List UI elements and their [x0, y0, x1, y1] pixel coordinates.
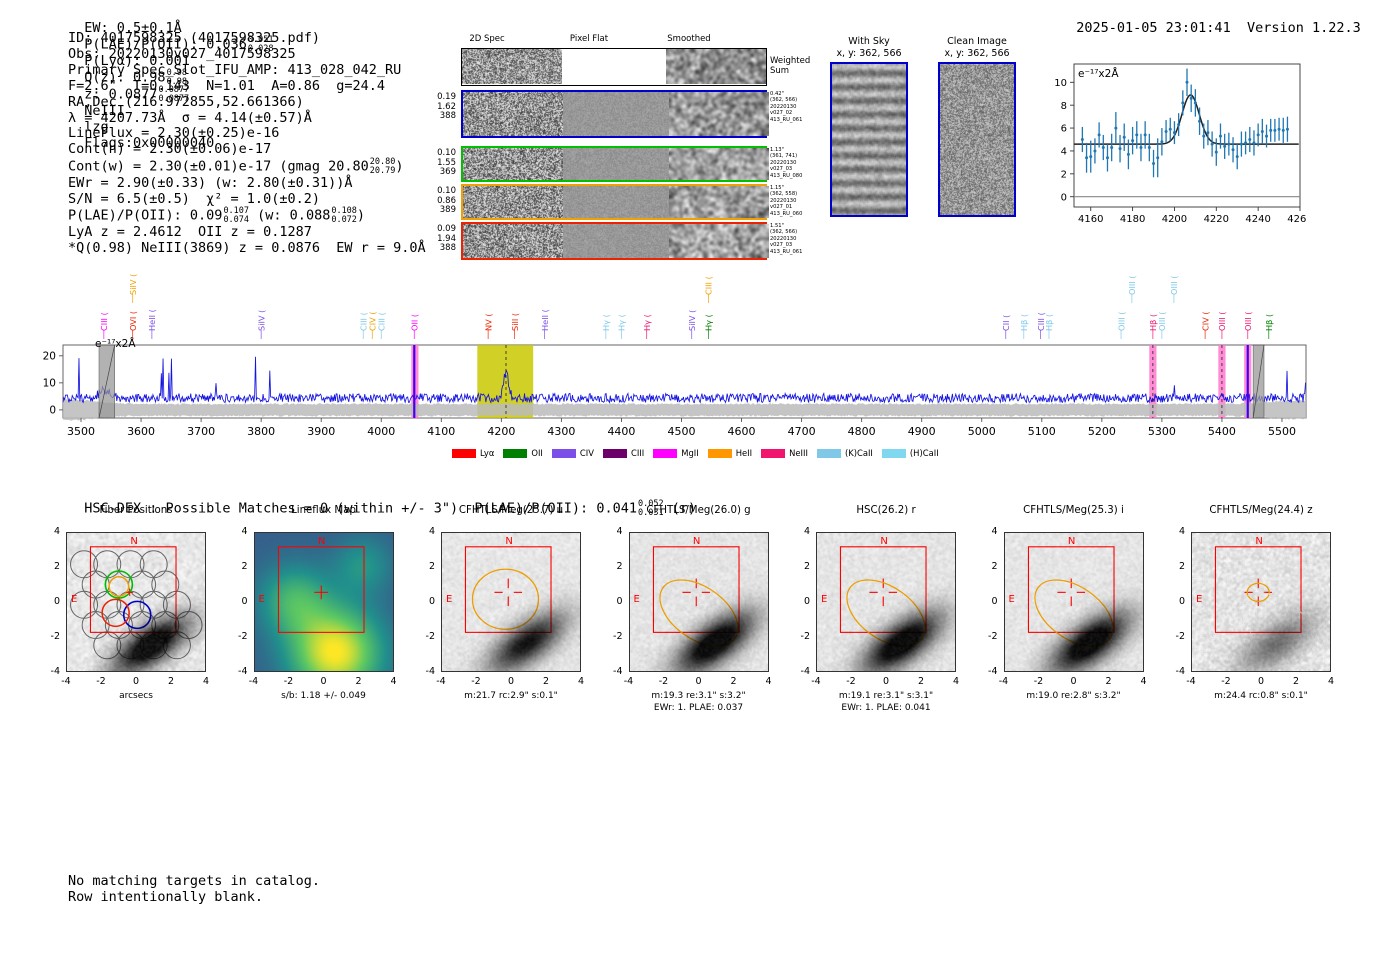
spectrum-line-label: OVI ( — [128, 311, 138, 331]
spectrum-xtick: 4500 — [667, 425, 695, 438]
thumbnail-caption: m:19.3 re:3.1" s:3.2"EWr: 1. PLAE: 0.037 — [601, 691, 797, 714]
bottom-note-line-1: No matching targets in catalog. — [68, 873, 320, 889]
spec2d-fiber-smoothed — [669, 186, 769, 218]
spec2d-row-stat: 388 — [410, 112, 456, 122]
compass-east-label: E — [1196, 594, 1202, 605]
spectrum-legend-label: OII — [531, 448, 543, 458]
spec2d-weighted-smoothed — [666, 49, 766, 85]
thumbnail-xtick: -2 — [837, 676, 865, 687]
spec2d-row-meta-block: 1.15"(362, 558)20220130v027_01413_RU_060 — [770, 185, 802, 217]
spectrum-xtick: 4400 — [607, 425, 635, 438]
thumbnail-ytick: -2 — [411, 631, 435, 642]
spectrum-line-label: Hγ ( — [617, 314, 627, 331]
thumbnail-cutout[interactable] — [441, 532, 581, 672]
thumbnail-xtick: -2 — [275, 676, 303, 687]
spec2d-row-meta: 413_RU_080 — [770, 173, 802, 179]
spec2d-column-header-2: Smoothed — [659, 34, 719, 44]
compass-east-label: E — [259, 594, 265, 605]
spec2d-fiber-2dspec — [463, 148, 563, 180]
spectrum-line-label: CIII ( — [99, 312, 109, 331]
spectrum-xtick: 4900 — [908, 425, 936, 438]
spectrum-legend-label: CIII — [631, 448, 644, 458]
spec2d-row-stat: 388 — [410, 244, 456, 254]
thumbnail-caption-line: m:21.7 rc:2.9" s:0.1" — [413, 691, 609, 703]
spec2d-fiber-smoothed-img — [669, 186, 769, 218]
zoom-ytick: 2 — [1061, 169, 1067, 180]
spec2d-fiber-2dspec — [463, 92, 563, 136]
spectrum-line-label: OII ( — [409, 314, 419, 331]
spectrum-line-label: OIII ( — [1169, 276, 1179, 296]
spectrum-xtick: 4100 — [427, 425, 455, 438]
source-info-block: ID: 4017598325 (4017598325.pdf) Obs: 202… — [68, 31, 426, 257]
spec2d-row-meta: 413_RU_061 — [770, 249, 802, 255]
zoom-xtick: 4220 — [1204, 214, 1229, 225]
fiber-galaxy-image — [67, 533, 205, 671]
spectrum-legend-swatch — [603, 449, 627, 458]
spectrum-legend-swatch — [503, 449, 527, 458]
thumbnail-caption-line: m:19.0 re:2.8" s:3.2" — [976, 691, 1172, 703]
spectrum-ytick: 0 — [49, 404, 56, 416]
header-version: Version 1.22.3 — [1247, 20, 1361, 36]
sky-image-title-text: With Sky — [818, 36, 920, 48]
thumbnail-cutout[interactable] — [254, 532, 394, 672]
spectrum-legend-label: HeII — [736, 448, 752, 458]
header-timestamp-version: 2025-01-05 23:01:41 Version 1.22.3 — [1060, 4, 1361, 36]
thumbnail-xtick: 0 — [122, 676, 150, 687]
thumbnail-title: CFHTLS/Meg(24.4) z — [1163, 505, 1359, 516]
compass-north-label: N — [1255, 536, 1262, 547]
thumbnail-xtick: -2 — [650, 676, 678, 687]
thumbnail-ytick: 0 — [599, 596, 623, 607]
thumbnail-ytick: 0 — [411, 596, 435, 607]
thumbnail-xtick: 2 — [345, 676, 373, 687]
spec2d-fiber-2dspec-img — [463, 186, 563, 218]
spec2d-weighted-2dspec — [462, 49, 562, 85]
thumbnail-xtick: -2 — [1212, 676, 1240, 687]
thumbnail-ytick: 4 — [599, 526, 623, 537]
spec2d-row-meta: 413_RU_060 — [770, 211, 802, 217]
info-line-primary-spec: Primary Spec_Slot_IFU_AMP: 413_028_042_R… — [68, 63, 426, 79]
spec2d-row-stats: 0.191.62388 — [410, 93, 456, 122]
spec2d-row-meta: 413_RU_061 — [770, 117, 802, 123]
spectrum-line-label: SiIV ( — [687, 310, 697, 331]
spectrum-xtick: 3600 — [127, 425, 155, 438]
info-line-snr: S/N = 6.5(±0.5) χ² = 1.0(±0.2) — [68, 192, 426, 208]
zoom-line-profile-chart: 0246810416041804200422042404260e⁻¹⁷x2Å — [1038, 56, 1306, 231]
info-line-redshifts: LyA z = 2.4612 OII z = 0.1287 — [68, 225, 426, 241]
spectrum-line-label: OIII ( — [1243, 312, 1253, 332]
spec2d-fiber-row[interactable] — [461, 90, 767, 138]
thumbnail-caption: s/b: 1.18 +/- 0.049 — [226, 691, 422, 703]
cont-w-gmag-range: 20.8020.79 — [370, 158, 396, 175]
spectrum-line-label: CIII ( — [704, 276, 714, 295]
spec2d-row-stats: 0.091.94388 — [410, 225, 456, 254]
spec2d-row-stats: 0.100.86389 — [410, 187, 456, 216]
spec2d-row-stat: 369 — [410, 168, 456, 178]
cutout-galaxy-image — [442, 533, 580, 671]
thumbnail-xtick: 4 — [755, 676, 783, 687]
spectrum-legend-label: Lyα — [480, 448, 494, 458]
thumbnail-ytick: 4 — [974, 526, 998, 537]
spec2d-fiber-2dspec-img — [463, 148, 563, 180]
thumbnail-ytick: 2 — [411, 561, 435, 572]
full-spectrum-chart: 0102035003600370038003900400041004200430… — [0, 268, 1400, 473]
thumbnail-ytick: 0 — [786, 596, 810, 607]
thumbnail-xtick: -2 — [462, 676, 490, 687]
spec2d-weighted-smoothed-img — [666, 49, 766, 84]
spectrum-xtick: 4700 — [788, 425, 816, 438]
info-line-cont-w: Cont(w) = 2.30(±0.01)e-17 (gmag 20.8020.… — [68, 158, 426, 175]
spec2d-fiber-row[interactable] — [461, 184, 767, 220]
info-line-obs: Obs: 20220130v027_4017598325 — [68, 47, 426, 63]
spec2d-fiber-pixelflat — [563, 186, 669, 218]
thumbnail-cutout[interactable] — [816, 532, 956, 672]
thumbnail-xtick: 0 — [1247, 676, 1275, 687]
sky-image-cutout[interactable] — [830, 62, 908, 217]
zoom-ytick: 6 — [1061, 124, 1067, 135]
spec2d-fiber-smoothed — [669, 92, 769, 136]
spectrum-xtick: 4200 — [487, 425, 515, 438]
spectrum-legend-swatch — [817, 449, 841, 458]
zoom-xtick: 4240 — [1245, 214, 1270, 225]
thumbnail-svg — [255, 533, 393, 671]
compass-north-label: N — [880, 536, 887, 547]
spec2d-fiber-smoothed-img — [669, 148, 769, 180]
info-line-lineflux: LineFlux = 2.30(±0.25)e-16 — [68, 126, 426, 142]
thumbnail-ytick: 2 — [224, 561, 248, 572]
spectrum-xtick: 5400 — [1208, 425, 1236, 438]
thumbnail-ytick: 4 — [411, 526, 435, 537]
info-line-wavelength: λ = 4207.73Å σ = 4.14(±0.57)Å — [68, 111, 426, 127]
thumbnail-caption-line: arcsecs — [38, 691, 234, 703]
spectrum-legend-swatch — [761, 449, 785, 458]
spec2d-fiber-pixelflat — [563, 224, 669, 258]
thumbnail-xtick: 2 — [720, 676, 748, 687]
spec2d-fiber-smoothed — [669, 148, 769, 180]
info-line-qnote: *Q(0.98) NeIII(3869) z = 0.0876 EW r = 9… — [68, 241, 426, 257]
spec2d-row-stat: 389 — [410, 206, 456, 216]
thumbnail-title: Lineflux Map — [226, 505, 422, 516]
spectrum-line-label: Hβ ( — [1264, 314, 1274, 331]
spectrum-legend-label: (H)CaII — [910, 448, 939, 458]
spec2d-fiber-smoothed-img — [669, 224, 769, 258]
spectrum-xtick: 3900 — [307, 425, 335, 438]
bottom-note: No matching targets in catalog. Row inte… — [68, 873, 320, 905]
sky-image-data — [832, 64, 906, 215]
thumbnail-ytick: 0 — [974, 596, 998, 607]
thumbnail-cutout[interactable] — [1191, 532, 1331, 672]
spectrum-line-label: Hβ ( — [1044, 314, 1054, 331]
thumbnail-caption-line: EWr: 1. PLAE: 0.037 — [601, 703, 797, 715]
thumbnail-xtick: 4 — [567, 676, 595, 687]
spectrum-line-label: OIII ( — [1217, 312, 1227, 332]
spec2d-fiber-smoothed — [669, 224, 769, 258]
spectrum-line-label: SiIV ( — [128, 274, 138, 295]
thumbnail-xtick: -2 — [1025, 676, 1053, 687]
thumbnail-xtick: -4 — [240, 676, 268, 687]
spectrum-legend-label: (K)CaII — [845, 448, 873, 458]
spectrum-legend-item: MgII — [653, 448, 698, 458]
thumbnail-caption: arcsecs — [38, 691, 234, 703]
thumbnail-xtick: 0 — [872, 676, 900, 687]
compass-east-label: E — [1009, 594, 1015, 605]
spec2d-column-header-0: 2D Spec — [457, 34, 517, 44]
spec2d-fiber-row[interactable] — [461, 222, 767, 260]
thumbnail-title: HSC(26.2) r — [788, 505, 984, 516]
spectrum-legend-swatch — [882, 449, 906, 458]
info-line-id: ID: 4017598325 (4017598325.pdf) — [68, 31, 426, 47]
spectrum-line-label: CII ( — [1001, 315, 1011, 331]
thumbnail-ytick: -2 — [36, 631, 60, 642]
spectrum-line-label: NV ( — [483, 313, 493, 331]
zoom-xtick: 4200 — [1162, 214, 1187, 225]
thumbnail-ytick: 0 — [224, 596, 248, 607]
spectrum-legend-item: (H)CaII — [882, 448, 939, 458]
plae-w-range: 0.1080.072 — [331, 207, 357, 224]
thumbnail-xtick: 0 — [685, 676, 713, 687]
thumbnail-xtick: 2 — [1095, 676, 1123, 687]
spectrum-line-label: HeII ( — [147, 309, 157, 331]
thumbnail-ytick: -2 — [1161, 631, 1185, 642]
spec2d-row-stats: 0.101.55369 — [410, 149, 456, 178]
spec2d-panel: 2D SpecPixel FlatSmoothedWeighted Sum0.1… — [436, 34, 786, 249]
spec2d-fiber-2dspec-img — [463, 92, 563, 136]
cutout-thumbnail-row: Fiber Positions420-2-4-4-2024+NEarcsecsL… — [0, 505, 1400, 735]
compass-north-label: N — [318, 536, 325, 547]
info-line-radec: RA,Dec (216.972855,52.661366) — [68, 95, 426, 111]
thumbnail-xtick: -2 — [87, 676, 115, 687]
thumbnail-xtick: -4 — [990, 676, 1018, 687]
sky-image-cutout[interactable] — [938, 62, 1016, 217]
thumbnail-ytick: -2 — [786, 631, 810, 642]
zoom-xtick: 4180 — [1120, 214, 1145, 225]
spectrum-legend-item: NeIII — [761, 448, 808, 458]
compass-north-label: N — [1068, 536, 1075, 547]
thumbnail-ytick: 2 — [36, 561, 60, 572]
zoom-ytick: 8 — [1061, 101, 1067, 112]
spectrum-line-label: OIII ( — [1157, 312, 1167, 332]
spec2d-weighted-sum-label: Weighted Sum — [770, 56, 810, 76]
spectrum-legend-swatch — [452, 449, 476, 458]
spectrum-line-label: SiII ( — [510, 313, 520, 331]
spectrum-legend-item: CIII — [603, 448, 644, 458]
full-spectrum-svg: 0102035003600370038003900400041004200430… — [0, 268, 1400, 473]
spec2d-row-meta-block: 0.42"(362, 566)20220130v027_02413_RU_061 — [770, 91, 802, 123]
spectrum-legend-item: (K)CaII — [817, 448, 873, 458]
thumbnail-caption-line: EWr: 1. PLAE: 0.041 — [788, 703, 984, 715]
info-line-plae: P(LAE)/P(OII): 0.090.1070.074 (w: 0.0880… — [68, 207, 426, 224]
spec2d-fiber-pixelflat-img — [563, 148, 669, 180]
spectrum-legend-label: MgII — [681, 448, 698, 458]
sky-images-panel: With Skyx, y: 362, 566Clean Imagex, y: 3… — [820, 36, 1020, 251]
spec2d-fiber-2dspec — [463, 224, 563, 258]
thumbnail-caption-line: m:24.4 rc:0.8" s:0.1" — [1163, 691, 1359, 703]
thumbnail-xtick: 0 — [1060, 676, 1088, 687]
compass-east-label: E — [446, 594, 452, 605]
thumbnail-ytick: 0 — [36, 596, 60, 607]
thumbnail-caption: m:21.7 rc:2.9" s:0.1" — [413, 691, 609, 703]
thumbnail-title: Fiber Positions — [38, 505, 234, 516]
spectrum-legend-swatch — [552, 449, 576, 458]
spec2d-weighted-sum-row — [461, 48, 767, 86]
spec2d-fiber-pixelflat-img — [563, 92, 669, 136]
spectrum-line-label: OIII ( — [1116, 312, 1126, 332]
info-line-ewr: EWr = 2.90(±0.33) (w: 2.80(±0.31))Å — [68, 176, 426, 192]
thumbnail-cutout[interactable] — [629, 532, 769, 672]
thumbnail-caption-line: m:19.1 re:3.1" s:3.1" — [788, 691, 984, 703]
thumbnail-xtick: 2 — [907, 676, 935, 687]
thumbnail-ytick: 4 — [786, 526, 810, 537]
spectrum-xtick: 4800 — [848, 425, 876, 438]
spectrum-line-label: Hγ ( — [642, 314, 652, 331]
spectrum-line-label: HeII ( — [540, 309, 550, 331]
spectrum-legend-item: HeII — [708, 448, 752, 458]
spectrum-xtick: 5100 — [1028, 425, 1056, 438]
thumbnail-xtick: 4 — [192, 676, 220, 687]
cutout-galaxy-image — [817, 533, 955, 671]
spectrum-xtick: 5500 — [1268, 425, 1296, 438]
spec2d-fiber-2dspec — [463, 186, 563, 218]
thumbnail-caption: m:19.1 re:3.1" s:3.1"EWr: 1. PLAE: 0.041 — [788, 691, 984, 714]
spectrum-line-label: OIII ( — [1127, 276, 1137, 296]
thumbnail-ytick: 4 — [224, 526, 248, 537]
thumbnail-xtick: 0 — [497, 676, 525, 687]
thumbnail-ytick: -2 — [974, 631, 998, 642]
zoom-ytick: 4 — [1061, 147, 1067, 158]
thumbnail-title: CFHTLS/Meg(25.3) i — [976, 505, 1172, 516]
spec2d-fiber-pixelflat-img — [563, 224, 669, 258]
spectrum-flux-units: e⁻¹⁷x2Å — [95, 337, 136, 350]
spectrum-xtick: 4300 — [547, 425, 575, 438]
spectrum-xtick: 4600 — [728, 425, 756, 438]
zoom-xtick: 4260 — [1287, 214, 1306, 225]
zoom-line-profile-svg: 0246810416041804200422042404260e⁻¹⁷x2Å — [1038, 56, 1306, 231]
zoom-flux-units: e⁻¹⁷x2Å — [1078, 67, 1119, 80]
thumbnail-ytick: 2 — [1161, 561, 1185, 572]
spectrum-line-label: CIII ( — [376, 312, 386, 331]
zoom-ytick: 0 — [1061, 192, 1067, 203]
spec2d-fiber-pixelflat — [563, 92, 669, 136]
compass-east-label: E — [634, 594, 640, 605]
spectrum-ytick: 10 — [43, 377, 56, 389]
spectrum-legend-label: CIV — [580, 448, 594, 458]
zoom-xtick: 4160 — [1078, 214, 1103, 225]
thumbnail-title: CFHTLS/Meg(25.7) u — [413, 505, 609, 516]
sky-image-coords: x, y: 362, 566 — [926, 48, 1028, 60]
spec2d-column-header-1: Pixel Flat — [559, 34, 619, 44]
spectrum-line-label: CIV ( — [1200, 311, 1210, 331]
thumbnail-xtick: -4 — [802, 676, 830, 687]
spectrum-legend-swatch — [653, 449, 677, 458]
spectrum-line-label: Hβ ( — [1019, 314, 1029, 331]
thumbnail-ytick: 4 — [36, 526, 60, 537]
thumbnail-ytick: 2 — [599, 561, 623, 572]
thumbnail-ytick: 0 — [1161, 596, 1185, 607]
info-line-conditions: F=2.6" T=0.143 N=1.01 A=0.86 g=24.4 — [68, 79, 426, 95]
thumbnail-caption: m:19.0 re:2.8" s:3.2" — [976, 691, 1172, 703]
spec2d-row-meta-block: 1.13"(361, 741)20220130v027_03413_RU_080 — [770, 147, 802, 179]
thumbnail-xtick: -4 — [615, 676, 643, 687]
thumbnail-xtick: 4 — [1130, 676, 1158, 687]
thumbnail-xtick: 0 — [310, 676, 338, 687]
spectrum-legend-swatch — [708, 449, 732, 458]
thumbnail-xtick: 2 — [532, 676, 560, 687]
thumbnail-caption-line: m:19.3 re:3.1" s:3.2" — [601, 691, 797, 703]
thumbnail-ytick: -2 — [599, 631, 623, 642]
thumbnail-ytick: 2 — [786, 561, 810, 572]
thumbnail-caption: m:24.4 rc:0.8" s:0.1" — [1163, 691, 1359, 703]
spectrum-xtick: 5300 — [1148, 425, 1176, 438]
spectrum-legend-label: NeIII — [789, 448, 808, 458]
thumbnail-cutout[interactable] — [1004, 532, 1144, 672]
spectrum-xtick: 5000 — [968, 425, 996, 438]
thumbnail-title: CFHTLS/Meg(26.0) g — [601, 505, 797, 516]
thumbnail-xtick: 2 — [1282, 676, 1310, 687]
cutout-galaxy-image — [1192, 533, 1330, 671]
thumbnail-cutout[interactable]: + — [66, 532, 206, 672]
sky-image-title-text: Clean Image — [926, 36, 1028, 48]
spec2d-fiber-2dspec-img — [463, 224, 563, 258]
thumbnail-xtick: -4 — [1177, 676, 1205, 687]
spec2d-fiber-pixelflat-img — [563, 186, 669, 218]
thumbnail-xtick: 4 — [1317, 676, 1345, 687]
bottom-note-line-2: Row intentionally blank. — [68, 889, 320, 905]
spectrum-xtick: 3500 — [67, 425, 95, 438]
thumbnail-xtick: 4 — [380, 676, 408, 687]
thumbnail-ytick: 4 — [1161, 526, 1185, 537]
spectrum-xtick: 4000 — [367, 425, 395, 438]
thumbnail-xtick: -4 — [52, 676, 80, 687]
compass-east-label: E — [71, 594, 77, 605]
cutout-galaxy-image — [630, 533, 768, 671]
thumbnail-ytick: -2 — [224, 631, 248, 642]
spectrum-xtick: 3700 — [187, 425, 215, 438]
thumbnail-xtick: 4 — [942, 676, 970, 687]
zoom-ytick: 10 — [1054, 78, 1067, 89]
spec2d-fiber-pixelflat — [563, 148, 669, 180]
spectrum-legend-item: Lyα — [452, 448, 494, 458]
spec2d-row-meta-block: 1.51"(362, 566)20220130v027_03413_RU_061 — [770, 223, 802, 255]
sky-image-coords: x, y: 362, 566 — [818, 48, 920, 60]
plae-range: 0.1070.074 — [223, 207, 249, 224]
info-line-cont-n: Cont(n) = 2.30(±0.06)e-17 — [68, 142, 426, 158]
spectrum-line-label: Hγ ( — [704, 314, 714, 331]
sky-image-title: Clean Imagex, y: 362, 566 — [926, 36, 1028, 59]
spec2d-weighted-pixelflat — [562, 49, 666, 85]
thumbnail-ytick: 2 — [974, 561, 998, 572]
compass-east-label: E — [821, 594, 827, 605]
spectrum-ytick: 20 — [43, 350, 56, 362]
spec2d-fiber-smoothed-img — [669, 92, 769, 136]
spectrum-line-label: SiIV ( — [256, 310, 266, 331]
spec2d-weighted-2dspec-img — [462, 49, 562, 84]
compass-north-label: N — [693, 536, 700, 547]
spec2d-fiber-row[interactable] — [461, 146, 767, 182]
spectrum-xtick: 3800 — [247, 425, 275, 438]
compass-north-label: N — [505, 536, 512, 547]
spectrum-legend: LyαOIICIVCIIIMgIIHeIINeIII(K)CaII(H)CaII — [452, 448, 948, 458]
thumbnail-caption-line: s/b: 1.18 +/- 0.049 — [226, 691, 422, 703]
spectrum-legend-item: OII — [503, 448, 543, 458]
spectrum-legend-item: CIV — [552, 448, 594, 458]
sky-image-title: With Skyx, y: 362, 566 — [818, 36, 920, 59]
cutout-galaxy-image — [1005, 533, 1143, 671]
spectrum-line-label: Hγ ( — [601, 314, 611, 331]
thumbnail-xtick: 2 — [157, 676, 185, 687]
compass-north-label: N — [130, 536, 137, 547]
spectrum-xtick: 5200 — [1088, 425, 1116, 438]
thumbnail-xtick: -4 — [427, 676, 455, 687]
